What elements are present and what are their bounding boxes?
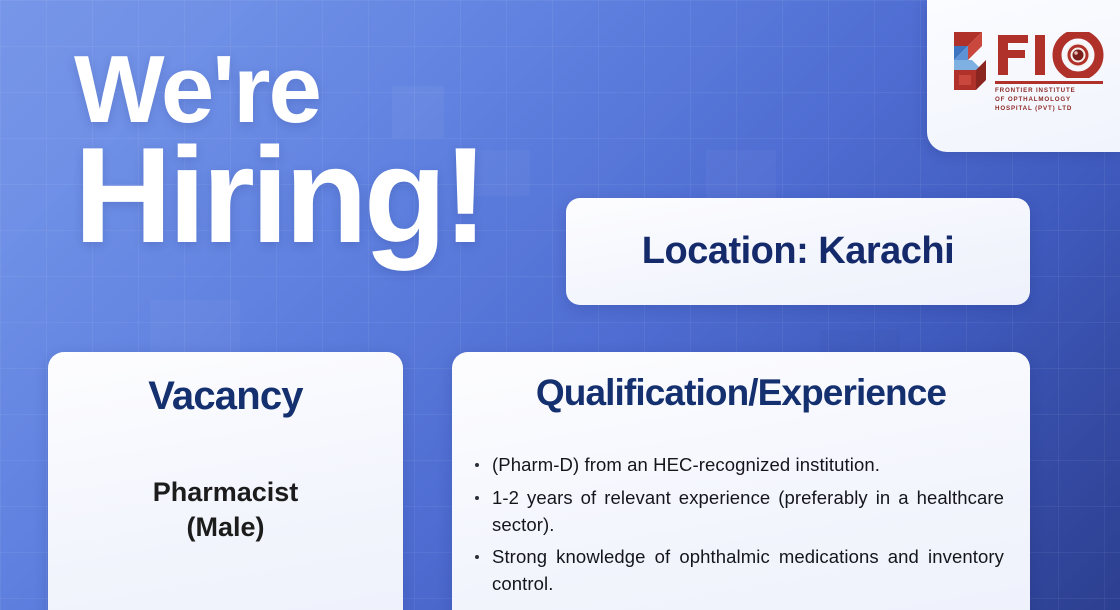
list-item: (Pharm-D) from an HEC-recognized institu… xyxy=(470,452,1004,479)
logo-subtitle-line-3: HOSPITAL (PVT) LTD xyxy=(995,105,1107,114)
headline: We're Hiring! xyxy=(74,44,484,261)
fio-letters-icon xyxy=(995,32,1107,78)
headline-line-2: Hiring! xyxy=(74,130,484,261)
location-text: Location: Karachi xyxy=(642,230,954,273)
qualification-list: (Pharm-D) from an HEC-recognized institu… xyxy=(470,452,1004,598)
vacancy-job-title: Pharmacist xyxy=(153,477,299,507)
location-card: Location: Karachi xyxy=(566,198,1030,305)
qualification-heading: Qualification/Experience xyxy=(452,372,1030,414)
fio-logo-mark-icon xyxy=(948,30,992,92)
list-item: 1-2 years of relevant experience (prefer… xyxy=(470,485,1004,539)
logo-text-block: FRONTIER INSTITUTE OF OPTHALMOLOGY HOSPI… xyxy=(995,30,1107,113)
hiring-poster: We're Hiring! Location: Karachi Vacancy … xyxy=(0,0,1120,610)
logo-underline xyxy=(995,81,1103,84)
list-item: Strong knowledge of ophthalmic medicatio… xyxy=(470,544,1004,598)
logo: FRONTIER INSTITUTE OF OPTHALMOLOGY HOSPI… xyxy=(948,30,1107,113)
logo-plate: FRONTIER INSTITUTE OF OPTHALMOLOGY HOSPI… xyxy=(927,0,1120,152)
logo-subtitle-line-1: FRONTIER INSTITUTE xyxy=(995,87,1107,96)
qualification-card: Qualification/Experience (Pharm-D) from … xyxy=(452,352,1030,610)
vacancy-card: Vacancy Pharmacist (Male) xyxy=(48,352,403,610)
background-square-4 xyxy=(150,300,240,354)
vacancy-job-gender: (Male) xyxy=(66,510,385,545)
logo-subtitle-line-2: OF OPTHALMOLOGY xyxy=(995,96,1107,105)
logo-subtitle: FRONTIER INSTITUTE OF OPTHALMOLOGY HOSPI… xyxy=(995,87,1107,113)
vacancy-job: Pharmacist (Male) xyxy=(66,475,385,545)
fio-wordmark xyxy=(995,30,1107,80)
vacancy-heading: Vacancy xyxy=(66,374,385,419)
